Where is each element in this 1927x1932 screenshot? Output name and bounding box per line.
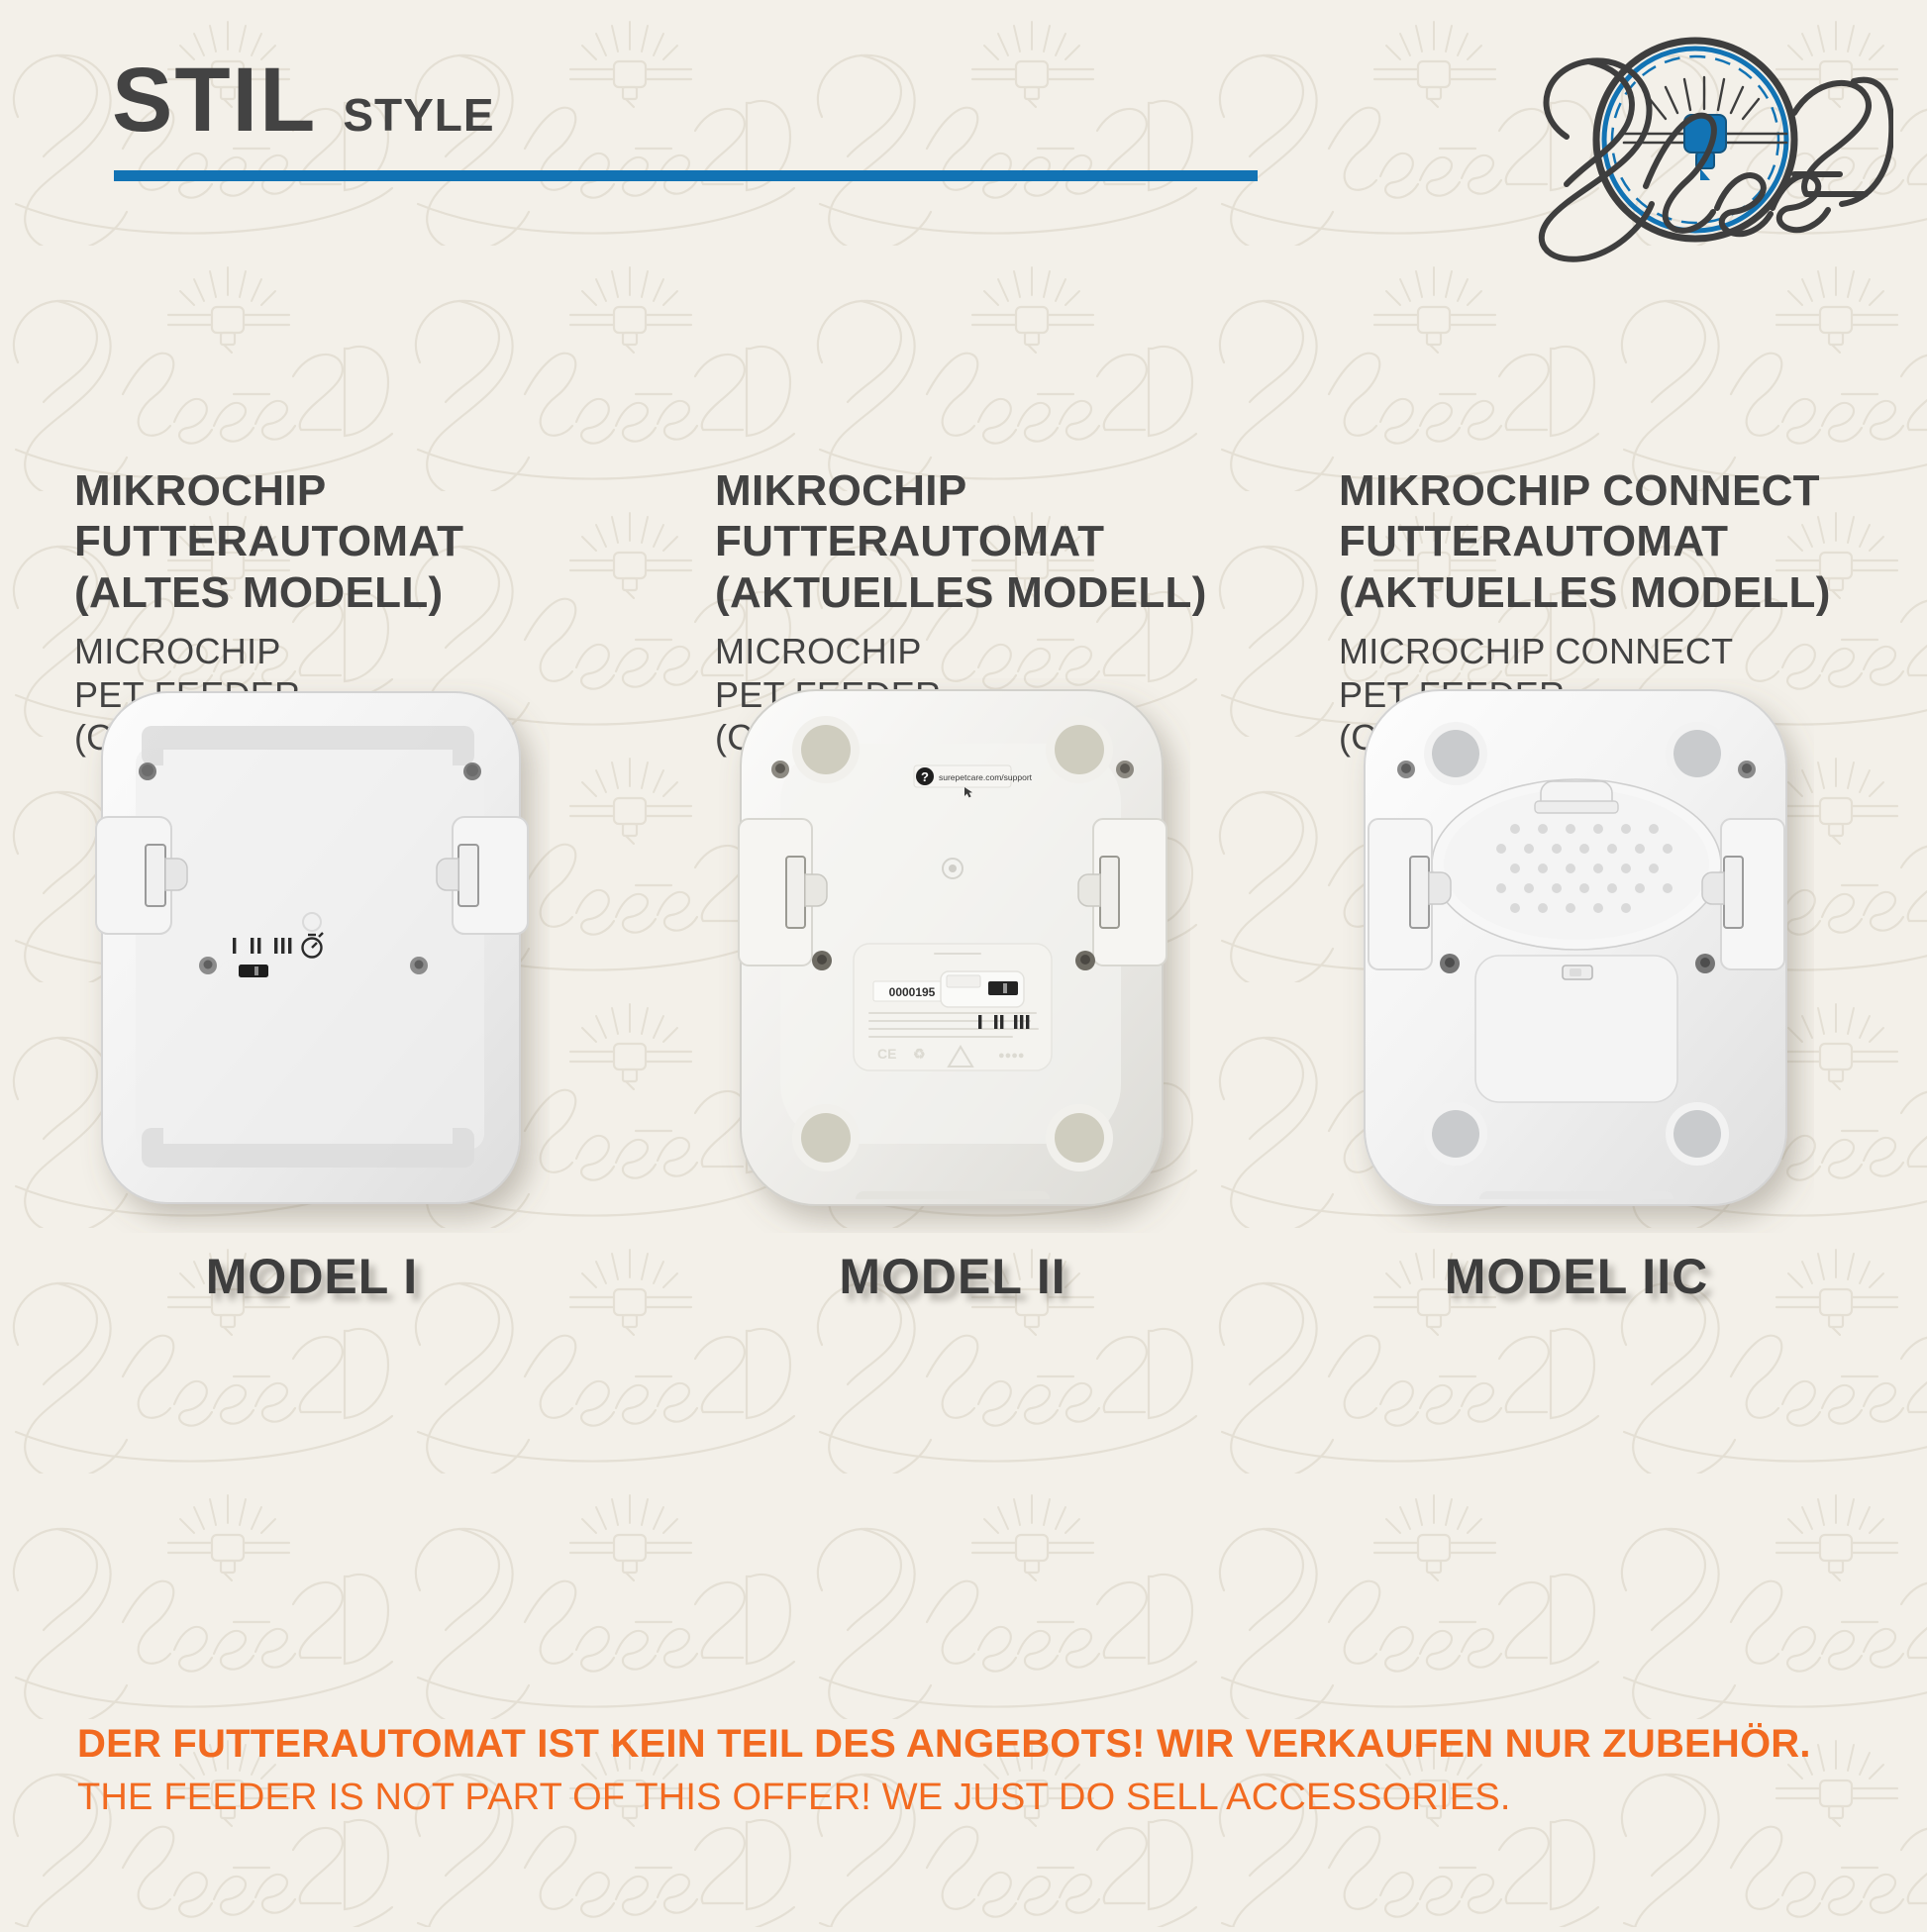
product-image-model-2c: [1339, 678, 1814, 1233]
disclaimer-de: DER FUTTERAUTOMAT IST KEIN TEIL DES ANGE…: [77, 1719, 1860, 1769]
battery-cover-clip: [1535, 781, 1618, 813]
disclaimer-notice: DER FUTTERAUTOMAT IST KEIN TEIL DES ANGE…: [77, 1719, 1860, 1822]
model-label-2: MODEL II: [715, 1248, 1190, 1305]
title-underline-rule: [114, 170, 1258, 181]
mode-slide-switch: [219, 956, 286, 987]
disclaimer-en: THE FEEDER IS NOT PART OF THIS OFFER! WE…: [77, 1775, 1860, 1822]
svg-text:?: ?: [921, 769, 929, 784]
serial-number-label: 0000195: [873, 981, 951, 1001]
product-column-model-2c: MIKROCHIP CONNECT FUTTERAUTOMAT (AKTUELL…: [1339, 465, 1927, 759]
page-title-en: STYLE: [343, 92, 494, 138]
page-title: STIL STYLE: [112, 54, 495, 146]
brand-logo: [1497, 18, 1893, 265]
page-header: STIL STYLE: [0, 0, 1927, 228]
svg-text:♻: ♻: [913, 1046, 926, 1062]
model-label-2c: MODEL IIC: [1339, 1248, 1814, 1305]
printer-nozzle-icon: [1684, 115, 1726, 180]
svg-text:CE: CE: [877, 1046, 896, 1062]
column-heading-de: MIKROCHIP FUTTERAUTOMAT (AKTUELLES MODEL…: [715, 465, 1309, 618]
lower-access-panel: [1475, 956, 1677, 1102]
page-title-de: STIL: [112, 54, 317, 146]
product-comparison-columns: MIKROCHIP FUTTERAUTOMAT (ALTES MODELL) M…: [0, 465, 1927, 1654]
support-url-text: surepetcare.com/support: [939, 772, 1033, 782]
serial-number-text: 0000195: [889, 985, 936, 999]
product-column-model-1: MIKROCHIP FUTTERAUTOMAT (ALTES MODELL) M…: [74, 465, 668, 759]
product-column-model-2: MIKROCHIP FUTTERAUTOMAT (AKTUELLES MODEL…: [715, 465, 1309, 759]
model-label-1: MODEL I: [74, 1248, 550, 1305]
column-heading-de: MIKROCHIP FUTTERAUTOMAT (ALTES MODELL): [74, 465, 668, 618]
svg-text:●●●●: ●●●●: [998, 1050, 1025, 1062]
product-image-model-2: ? surepetcare.com/support: [715, 678, 1190, 1233]
product-image-model-1: [74, 678, 550, 1233]
column-heading-de: MIKROCHIP CONNECT FUTTERAUTOMAT (AKTUELL…: [1339, 465, 1927, 618]
mode-slide-switch: [941, 971, 1024, 1007]
